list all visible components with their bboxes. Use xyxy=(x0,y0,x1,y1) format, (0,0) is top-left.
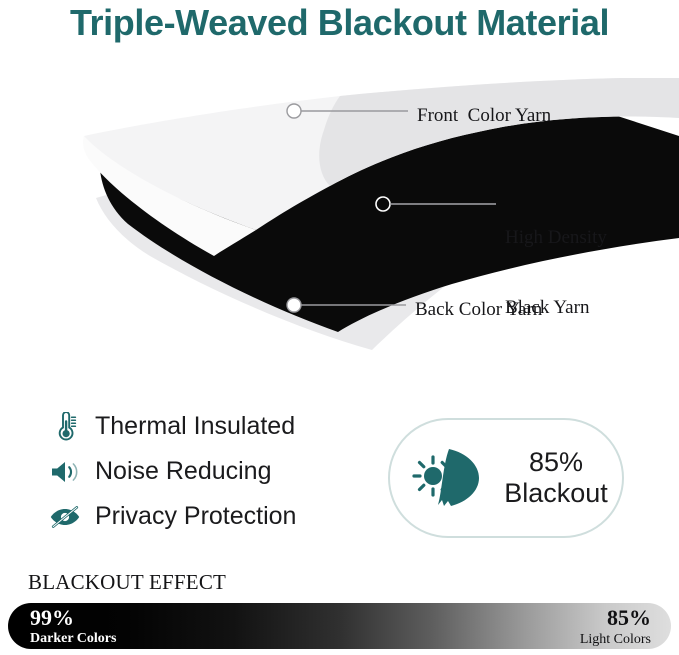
page-title: Triple-Weaved Blackout Material xyxy=(0,2,679,44)
feature-label-noise: Noise Reducing xyxy=(95,457,272,486)
callout-label-middle-line1: High Density xyxy=(505,226,607,249)
callout-label-back: Back Color Yarn xyxy=(415,298,542,321)
blackout-effect-gradient-bar: 99% Darker Colors 85% Light Colors xyxy=(8,603,671,649)
thermometer-icon xyxy=(46,410,84,444)
speaker-sound-icon xyxy=(46,455,84,489)
blackout-badge: 85% Blackout xyxy=(388,418,624,538)
gradient-bar-left-stat: 99% Darker Colors xyxy=(30,607,116,646)
product-infographic: Triple-Weaved Blackout Material xyxy=(0,0,679,655)
gradient-bar-right-stat: 85% Light Colors xyxy=(580,607,651,647)
gradient-bar-right-label: Light Colors xyxy=(580,633,651,647)
callout-label-front: Front Color Yarn xyxy=(417,104,551,127)
gradient-bar-left-percent: 99% xyxy=(30,607,116,629)
callout-label-middle: High Density Black Yarn xyxy=(505,180,607,365)
feature-label-privacy: Privacy Protection xyxy=(95,502,296,531)
feature-item-thermal: Thermal Insulated xyxy=(46,404,376,449)
feature-label-thermal: Thermal Insulated xyxy=(95,412,295,441)
blackout-effect-heading: BLACKOUT EFFECT xyxy=(28,570,226,595)
sun-behind-curtain-icon xyxy=(390,443,496,513)
badge-word: Blackout xyxy=(496,478,616,509)
feature-list: Thermal Insulated Noise Reducing xyxy=(46,404,376,539)
gradient-bar-left-label: Darker Colors xyxy=(30,632,116,646)
gradient-bar-right-percent: 85% xyxy=(580,607,651,629)
feature-item-privacy: Privacy Protection xyxy=(46,494,376,539)
badge-text: 85% Blackout xyxy=(496,447,622,509)
eye-slash-icon xyxy=(46,500,84,534)
badge-percent: 85% xyxy=(496,447,616,478)
feature-item-noise: Noise Reducing xyxy=(46,449,376,494)
